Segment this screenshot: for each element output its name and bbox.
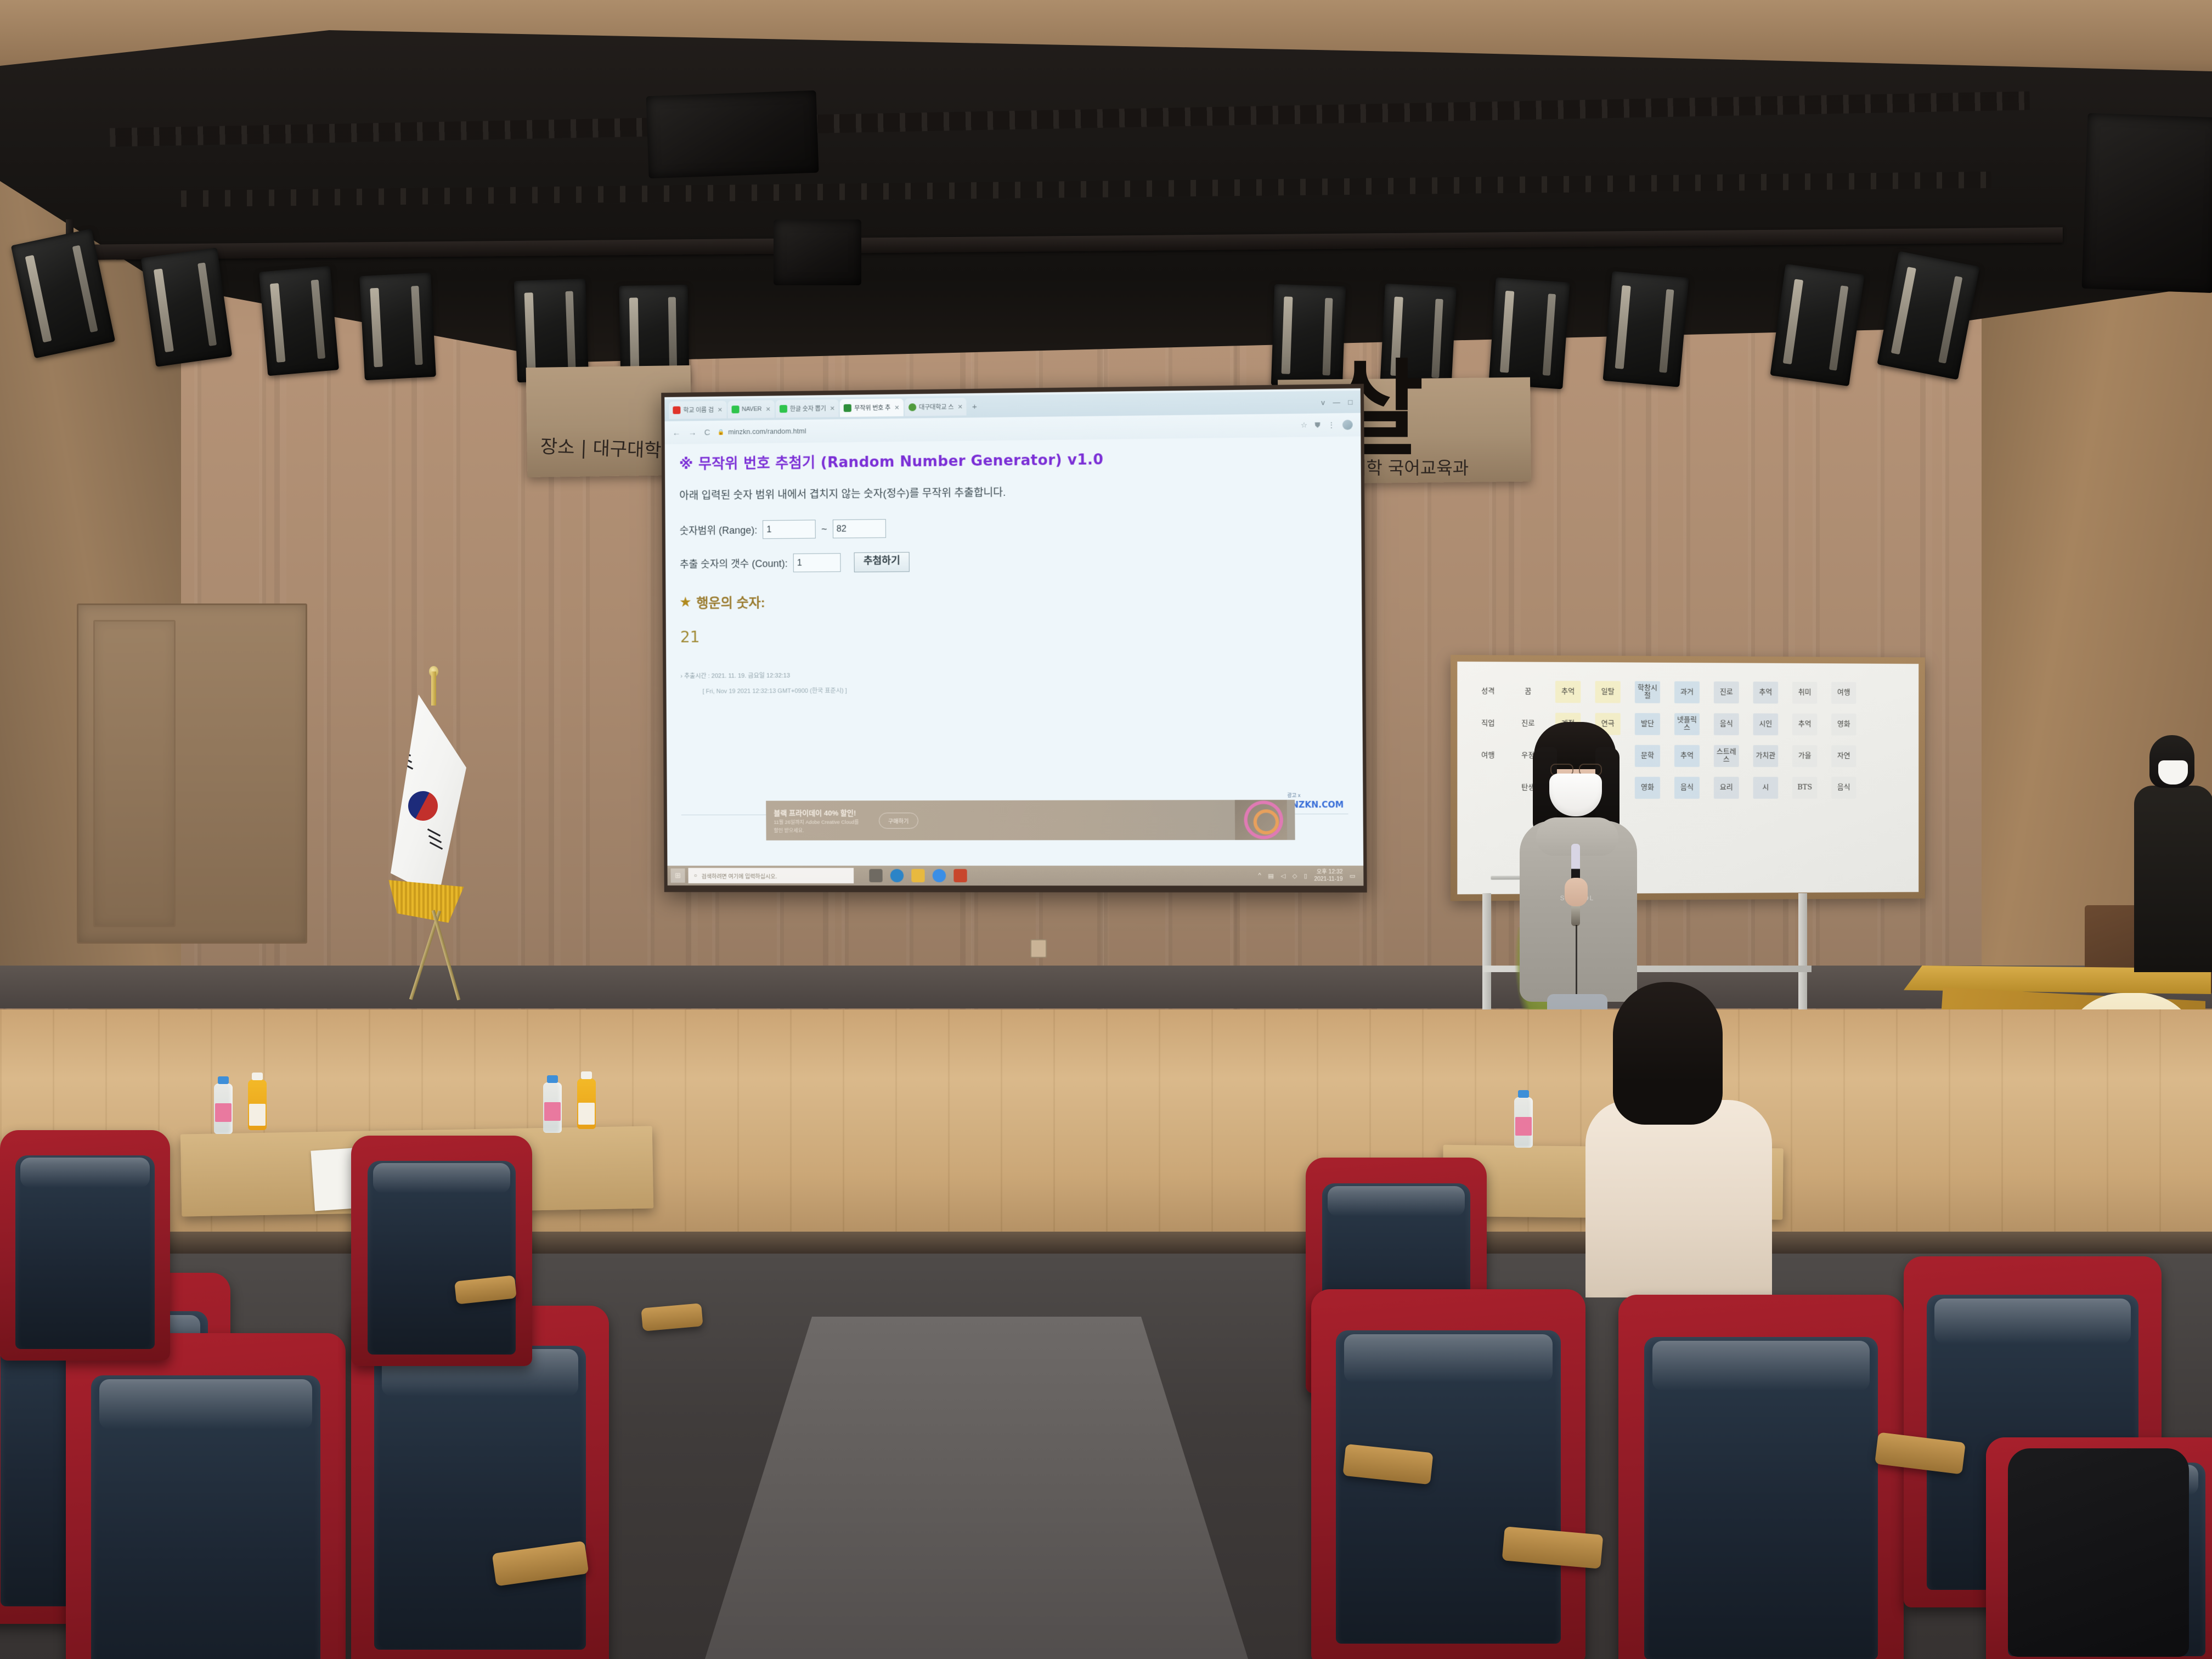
taeguk-circle (404, 787, 442, 825)
speaker-right (2081, 113, 2212, 293)
tab-favicon (844, 404, 851, 412)
sticky-note: 추억 (1753, 681, 1779, 703)
extension-icon[interactable]: ⛊ (1314, 421, 1320, 430)
taskbar-clock[interactable]: 오후 12:32 2021-11-19 (1314, 868, 1342, 883)
tab-close-icon[interactable]: ✕ (718, 406, 723, 413)
bottle-cap (252, 1073, 263, 1080)
result-value: 21 (680, 624, 1347, 646)
stage-light-2 (141, 247, 232, 367)
window-chevron-icon[interactable]: v (1321, 398, 1325, 406)
korean-flag-stand (379, 667, 488, 930)
person-body (2134, 786, 2212, 972)
tab-close-icon[interactable]: ✕ (957, 403, 962, 410)
projection-screen-frame: 학교 이름 검 ✕ NAVER ✕ 한글 숫자 뽑기 ✕ (661, 384, 1367, 893)
bottle-cap (581, 1071, 592, 1079)
tab-favicon (673, 407, 680, 414)
count-input[interactable]: 1 (793, 553, 841, 572)
water-bottle-3 (1514, 1097, 1533, 1148)
sticky-note: 영화 (1831, 714, 1856, 736)
speaker-left (646, 91, 819, 179)
sticky-note: 넷플릭스 (1674, 713, 1700, 735)
stage-light-9 (1488, 278, 1570, 390)
sticky-note: BTS (1792, 777, 1817, 799)
sticky-note: 음식 (1674, 777, 1700, 799)
sticky-note: 꿈 (1515, 681, 1541, 703)
seat-gloss (99, 1379, 312, 1429)
sticky-note: 추억 (1674, 745, 1700, 767)
bottle-cap (218, 1076, 229, 1084)
bottle-cap (547, 1075, 558, 1083)
ad-text-block: 블랙 프라이데이 40% 할인! 11월 26일까지 Adobe Creativ… (774, 807, 859, 834)
clock-date: 2021-11-19 (1314, 876, 1342, 882)
star-icon[interactable]: ☆ (1301, 421, 1307, 430)
taskbar-search-placeholder: 검색하려면 여기에 입력하십시오. (702, 872, 777, 880)
tab-title: 무작위 번호 추 (854, 403, 890, 413)
korean-flag-icon (384, 695, 466, 898)
sticky-note: 여행 (1831, 682, 1856, 704)
tab-title: NAVER (742, 406, 761, 413)
task-view-icon[interactable] (869, 869, 882, 882)
baseboard (0, 966, 2212, 1008)
count-label: 추출 숫자의 갯수 (Count): (680, 556, 788, 571)
tab-close-icon[interactable]: ✕ (894, 404, 899, 411)
window-controls: v — □ (1321, 398, 1361, 407)
tab-close-icon[interactable]: ✕ (830, 405, 835, 412)
seat-gloss (1344, 1334, 1553, 1383)
result-timestamp-gmt: [ Fri, Nov 19 2021 12:32:13 GMT+0900 (한국… (703, 684, 1348, 696)
avatar[interactable] (1342, 420, 1353, 430)
result-timestamp-korean: › 추출시간 : 2021. 11. 19. 금요일 12:32:13 (680, 668, 1347, 680)
sticky-note: 요리 (1714, 777, 1739, 799)
adobe-ad-banner[interactable]: 블랙 프라이데이 40% 할인! 11월 26일까지 Adobe Creativ… (766, 800, 1295, 840)
sticky-note: 성격 (1475, 680, 1501, 703)
sticky-note: 음식 (1714, 713, 1739, 735)
juice-bottle-1 (248, 1080, 267, 1130)
back-icon[interactable]: ← (673, 428, 681, 437)
tab-title: 대구대학교 스 (919, 402, 953, 411)
sticky-note: 자연 (1831, 745, 1856, 767)
omnibar-actions: ☆ ⛊ ⋮ (1301, 420, 1353, 430)
internet-explorer-icon[interactable] (890, 869, 904, 882)
browser-tab-4[interactable]: 대구대학교 스 ✕ (905, 398, 967, 416)
ad-headline: 블랙 프라이데이 40% 할인! (774, 807, 859, 817)
browser-tab-0[interactable]: 학교 이름 검 ✕ (669, 401, 726, 419)
address-bar[interactable]: 🔒 minzkn.com/random.html (718, 421, 1293, 436)
sticky-note: 여행 (1475, 744, 1501, 766)
reload-icon[interactable]: C (704, 427, 710, 437)
seat-gloss (373, 1163, 511, 1193)
projection-screen: 학교 이름 검 ✕ NAVER ✕ 한글 숫자 뽑기 ✕ (664, 388, 1363, 886)
sticky-note-column-7: 추억시인가치관시 (1753, 681, 1779, 798)
wall-outlet (1030, 939, 1047, 958)
window-maximize-icon[interactable]: □ (1348, 398, 1352, 406)
stage-light-10 (1603, 271, 1689, 387)
presenter-hand (1565, 878, 1588, 906)
seat-left-4[interactable] (0, 1130, 170, 1361)
browser-tab-2[interactable]: 한글 숫자 뽑기 ✕ (776, 399, 839, 418)
battery-icon[interactable]: ▯ (1304, 872, 1307, 879)
ad-cta-button[interactable]: 구매하기 (879, 812, 918, 828)
taskbar-tray: ^ ▤ ◁ ◇ ▯ 오후 12:32 2021-11-19 ▭ (1258, 868, 1360, 883)
sticky-note: 스트레스 (1714, 745, 1739, 767)
tab-close-icon[interactable]: ✕ (765, 405, 770, 413)
powerpoint-icon[interactable] (953, 869, 967, 882)
window-minimize-icon[interactable]: — (1333, 398, 1340, 406)
sticky-note: 가치관 (1753, 745, 1779, 767)
sticky-note-column-8: 취미추억가을BTS (1792, 682, 1817, 799)
juice-bottle-2 (577, 1079, 596, 1129)
creative-cloud-icon (1235, 800, 1287, 840)
windows-start-icon[interactable]: ⊞ (671, 868, 685, 883)
sticky-note: 학창시절 (1635, 681, 1660, 703)
browser-tab-1[interactable]: NAVER ✕ (727, 400, 775, 418)
sticky-note-column-0: 성격직업여행 (1475, 680, 1501, 799)
sticky-note: 시인 (1753, 713, 1779, 735)
sticky-note-column-5: 과거넷플릭스추억음식 (1674, 681, 1700, 799)
network-icon[interactable]: ▤ (1268, 872, 1274, 879)
address-bar-url: minzkn.com/random.html (728, 427, 806, 436)
taskbar-search-input[interactable]: ○ 검색하려면 여기에 입력하십시오. (689, 868, 854, 883)
banner-left-text: 장소 | 대구대학 (540, 431, 662, 462)
sticky-note: 직업 (1475, 713, 1501, 735)
sticky-note: 추억 (1555, 681, 1581, 703)
sticky-note: 시 (1753, 777, 1779, 799)
forward-icon[interactable]: → (689, 428, 697, 437)
page-description: 아래 입력된 숫자 범위 내에서 겹치지 않는 숫자(정수)를 무작위 추출합니… (679, 481, 1346, 503)
ad-subline-1: 11월 26일까지 Adobe Creative Cloud를 (774, 819, 859, 826)
wall-door-left-inner (93, 620, 176, 927)
seat-left-5[interactable] (351, 1136, 532, 1366)
speaker-center-vent (774, 219, 861, 285)
tab-title: 한글 숫자 뽑기 (790, 404, 826, 413)
browser-window: 학교 이름 검 ✕ NAVER ✕ 한글 숫자 뽑기 ✕ (664, 388, 1363, 886)
person-coat (1585, 1100, 1772, 1297)
sticky-note: 음식 (1831, 777, 1856, 799)
seat-gloss (1934, 1299, 2130, 1344)
sticky-note-column-6: 진로음식스트레스요리 (1714, 681, 1739, 799)
lock-icon: 🔒 (718, 429, 725, 435)
new-tab-button[interactable]: + (968, 402, 981, 411)
tab-title: 학교 이름 검 (683, 405, 713, 415)
flag-pole (431, 672, 436, 706)
tab-favicon (909, 403, 916, 411)
chevron-up-icon[interactable]: ^ (1258, 872, 1261, 879)
water-bottle-1 (214, 1084, 233, 1134)
tab-favicon (731, 405, 739, 413)
range-label: 숫자범위 (Range): (680, 522, 758, 537)
sticky-note: 추억 (1792, 714, 1817, 736)
volume-icon[interactable]: ◁ (1280, 872, 1285, 879)
trigram-1a (398, 748, 411, 757)
range-separator: ~ (821, 523, 827, 535)
backpack (2008, 1448, 2189, 1657)
sticky-note: 일탈 (1595, 681, 1621, 703)
chrome-icon[interactable] (933, 869, 946, 882)
search-icon: ○ (694, 873, 697, 879)
flag-fringe (385, 880, 471, 923)
stage-light-4 (359, 273, 436, 381)
file-explorer-icon[interactable] (911, 869, 924, 882)
star-icon: ★ (680, 595, 691, 609)
water-bottle-2 (543, 1082, 562, 1133)
clock-time: 오후 12:32 (1317, 868, 1343, 874)
sticky-note-column-9: 여행영화자연음식 (1831, 682, 1856, 799)
count-row: 추출 숫자의 갯수 (Count): 1 추첨하기 (680, 548, 1347, 573)
seat-gloss (20, 1158, 150, 1188)
sticky-note: 진로 (1714, 681, 1739, 703)
random-number-generator-page: ※ 무작위 번호 추첨기 (Random Number Generator) v… (665, 436, 1363, 866)
ad-subline-2: 할인 받으세요. (774, 827, 859, 834)
tab-favicon (780, 405, 787, 413)
person-audience-seated (1585, 982, 1772, 1289)
taskbar-pinned-apps (869, 869, 967, 882)
sticky-note: 가을 (1792, 745, 1817, 767)
glasses-icon (1550, 764, 1602, 774)
range-from-input[interactable]: 1 (763, 520, 816, 539)
shield-icon[interactable]: ◇ (1292, 872, 1297, 879)
page-title: ※ 무작위 번호 추첨기 (Random Number Generator) v… (679, 445, 1346, 473)
range-to-input[interactable]: 82 (833, 519, 886, 538)
bottle-cap (1518, 1090, 1529, 1098)
ad-close-label[interactable]: 광고 x (1287, 792, 1300, 799)
sticky-note-empty (1475, 777, 1501, 799)
face-mask (2158, 760, 2188, 785)
person-standing-right (2134, 735, 2212, 971)
stage-edge (0, 1232, 2212, 1255)
windows-taskbar: ⊞ ○ 검색하려면 여기에 입력하십시오. ^ ▤ (667, 866, 1363, 886)
stage-light-11 (1770, 264, 1864, 386)
draw-button[interactable]: 추첨하기 (854, 552, 910, 572)
sticky-note: 과거 (1674, 681, 1700, 703)
seat-gloss (1652, 1341, 1869, 1391)
result-heading: ★ 행운의 숫자: (680, 588, 1347, 612)
auditorium-scene: 장소 | 대구대학 살 사범대학 국어교육과 학교 이름 검 ✕ NAVER ✕ (0, 0, 2212, 1659)
result-heading-label: 행운의 숫자: (696, 592, 765, 612)
seat-left-2[interactable] (66, 1333, 346, 1659)
menu-icon[interactable]: ⋮ (1328, 420, 1335, 429)
seat-gloss (1328, 1186, 1465, 1217)
person-hair (1613, 982, 1723, 1125)
range-row: 숫자범위 (Range): 1 ~ 82 (680, 515, 1347, 539)
sticky-note: 취미 (1792, 682, 1817, 704)
notification-icon[interactable]: ▭ (1350, 872, 1356, 879)
seat-right-3[interactable] (1618, 1295, 1904, 1659)
stage-light-3 (259, 266, 339, 376)
browser-tab-3[interactable]: 무작위 번호 추 ✕ (840, 398, 904, 417)
